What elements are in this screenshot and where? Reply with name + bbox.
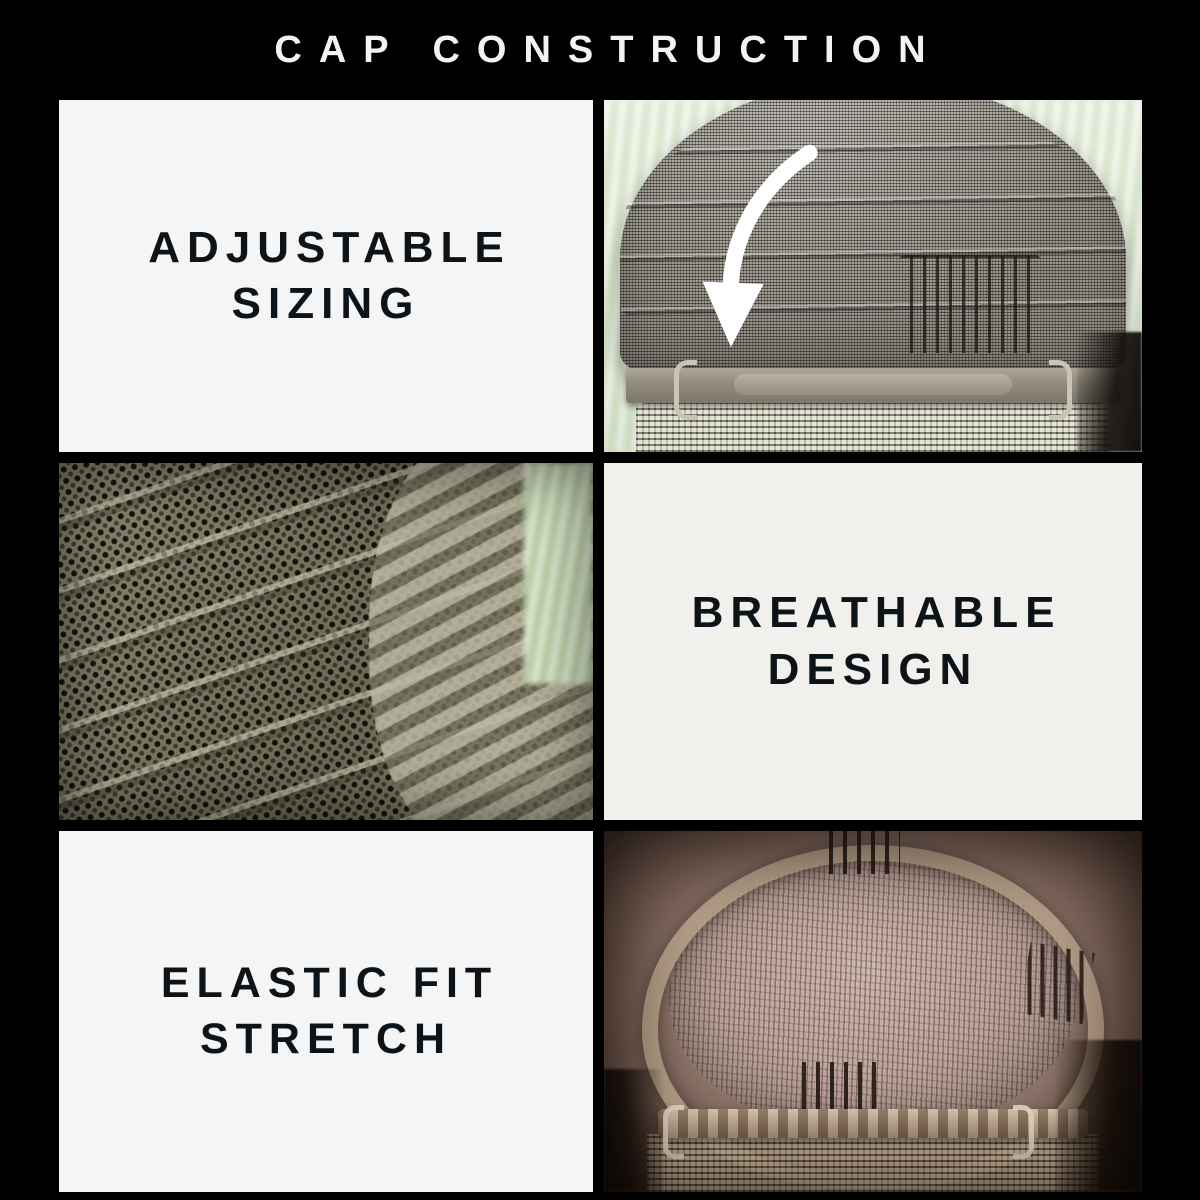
cap-lower-mesh <box>636 396 1109 452</box>
label-line-2: STRETCH <box>200 1015 452 1063</box>
infographic-canvas: CAP CONSTRUCTION ADJUSTABLE SIZING <box>0 0 1200 1200</box>
feature-photo-cap-interior <box>604 831 1142 1192</box>
feature-card-elastic-fit-stretch: ELASTIC FIT STRETCH <box>59 831 593 1192</box>
label-line-2: DESIGN <box>768 645 979 694</box>
cap-comb <box>900 255 1040 353</box>
feature-photo-adjustable-straps <box>604 100 1142 452</box>
mesh-net-closeup-photo <box>59 463 593 820</box>
feature-label-breathable-design: BREATHABLE DESIGN <box>667 585 1080 698</box>
feature-photo-breathable-mesh <box>59 463 593 820</box>
label-line-1: ADJUSTABLE <box>148 223 511 272</box>
feature-card-adjustable-sizing: ADJUSTABLE SIZING <box>59 100 593 452</box>
curved-down-arrow-icon <box>669 142 863 360</box>
page-title: CAP CONSTRUCTION <box>257 31 942 69</box>
feature-label-adjustable-sizing: ADJUSTABLE SIZING <box>123 220 529 333</box>
feature-grid: ADJUSTABLE SIZING <box>59 100 1142 1181</box>
feature-label-elastic-fit-stretch: ELASTIC FIT STRETCH <box>136 956 516 1066</box>
strap-hook-left-icon <box>674 360 697 420</box>
feature-card-breathable-design: BREATHABLE DESIGN <box>604 463 1142 820</box>
photo-vignette <box>604 831 1142 1192</box>
header: CAP CONSTRUCTION <box>0 0 1200 100</box>
wig-cap-interior-photo <box>604 831 1142 1192</box>
label-line-1: BREATHABLE <box>692 588 1062 637</box>
label-line-1: ELASTIC FIT <box>161 959 498 1007</box>
adjustable-strap-band <box>626 368 1121 403</box>
wig-cap-back-photo <box>604 100 1142 452</box>
photo-vignette <box>59 463 593 820</box>
label-line-2: SIZING <box>232 279 421 328</box>
hair-strand-right <box>1077 332 1142 452</box>
strap-hook-right-icon <box>1049 360 1072 420</box>
